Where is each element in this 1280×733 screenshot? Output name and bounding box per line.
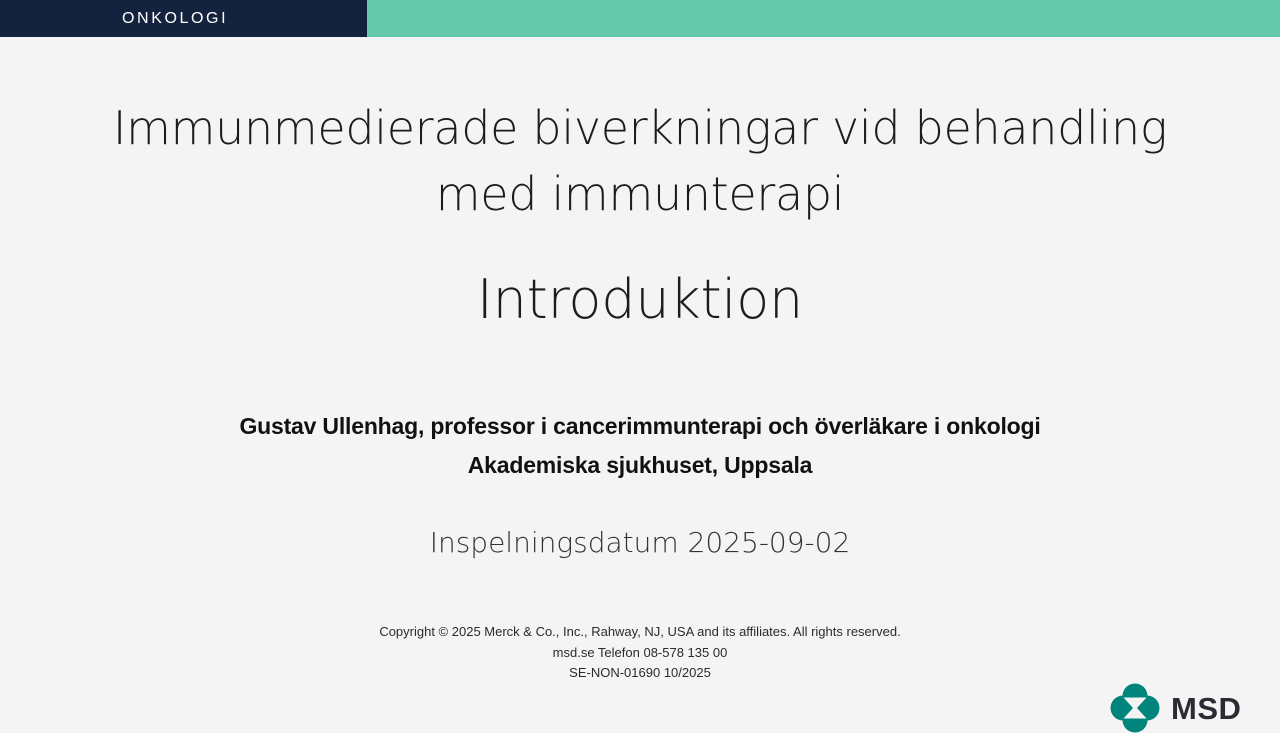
slide-title-line-2: med immunterapi [0,161,1280,227]
slide-title-line-1: Immunmedierade biverkningar vid behandli… [0,95,1280,161]
header-accent-band [367,0,1280,37]
header-category-label: ONKOLOGI [0,10,228,28]
slide-header-bar: ONKOLOGI [0,0,1280,37]
msd-wordmark: MSD [1171,693,1241,724]
footer-contact-line: msd.se Telefon 08-578 135 00 [0,643,1280,664]
slide-section-heading: Introduktion [0,265,1280,335]
footer-reference-code-line: SE-NON-01690 10/2025 [0,663,1280,684]
slide-body: Immunmedierade biverkningar vid behandli… [0,37,1280,720]
recording-date-block: Inspelningsdatum 2025-09-02 [0,525,1280,561]
footer-legal-text: Copyright © 2025 Merck & Co., Inc., Rahw… [0,622,1280,684]
footer-copyright-line: Copyright © 2025 Merck & Co., Inc., Rahw… [0,622,1280,643]
presenter-name-and-title: Gustav Ullenhag, professor i cancerimmun… [0,407,1280,446]
presenter-info: Gustav Ullenhag, professor i cancerimmun… [0,407,1280,485]
header-category-block: ONKOLOGI [0,0,367,37]
msd-logo: MSD [1110,683,1262,733]
msd-clover-icon [1110,683,1160,733]
slide-section-heading-block: Introduktion [0,265,1280,335]
slide-title: Immunmedierade biverkningar vid behandli… [0,95,1280,227]
recording-date: Inspelningsdatum 2025-09-02 [0,525,1280,561]
presenter-affiliation: Akademiska sjukhuset, Uppsala [0,446,1280,485]
